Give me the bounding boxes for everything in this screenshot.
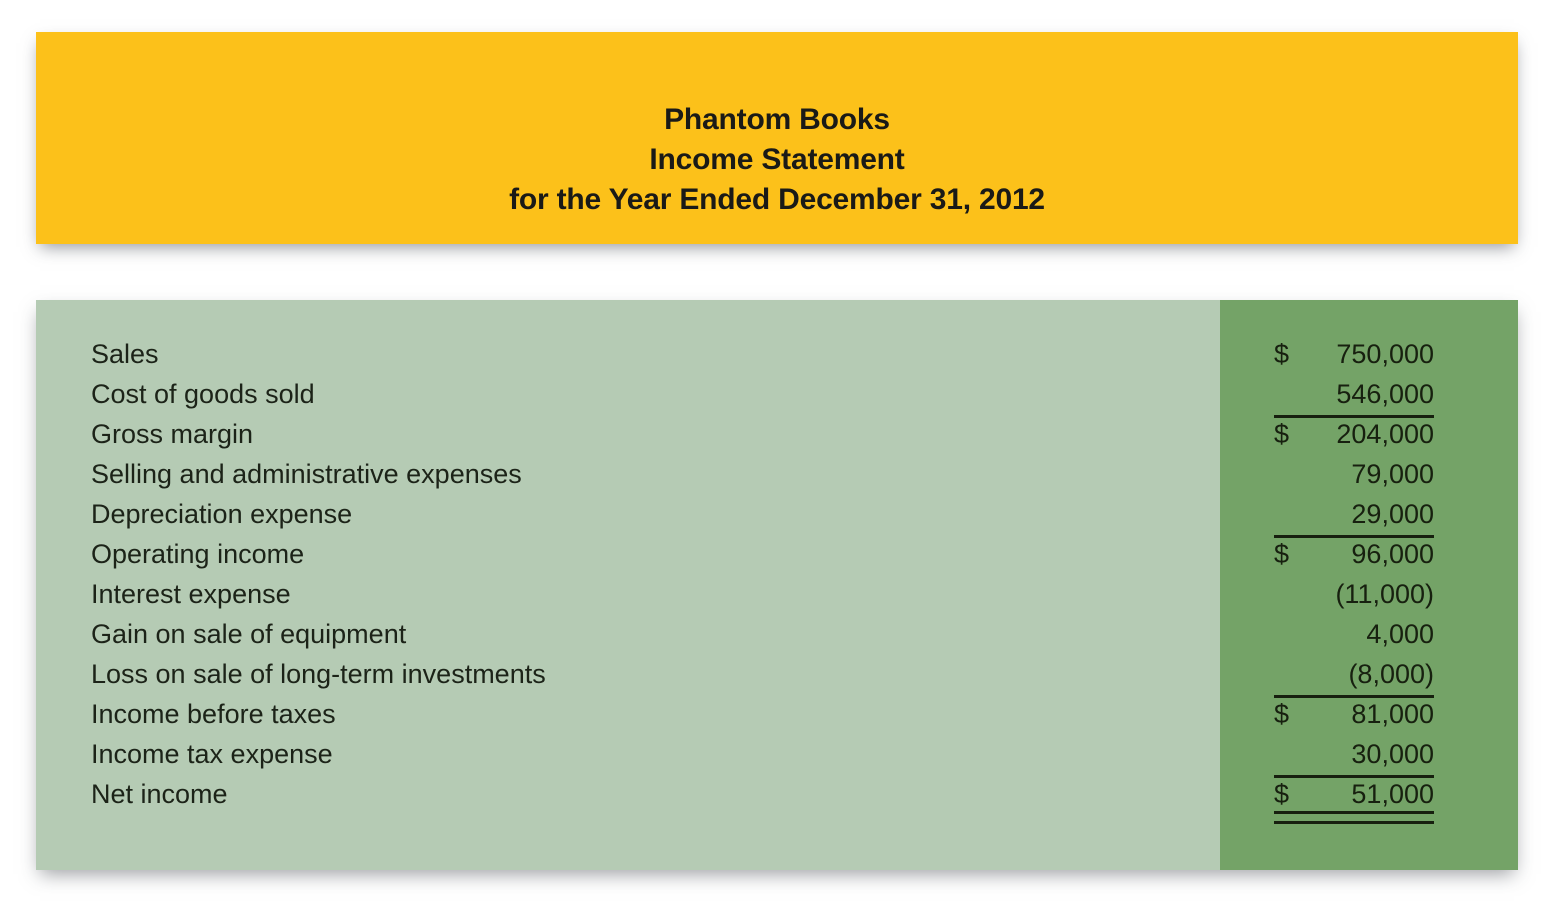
line-item-label: Net income	[36, 779, 228, 809]
line-item-label: Gain on sale of equipment	[36, 619, 406, 649]
table-row: Income before taxes $ 81,000	[36, 694, 1518, 734]
amount-text: 204,000	[1300, 419, 1434, 449]
amount-text: 29,000	[1300, 499, 1434, 529]
line-item-value: $ 204,000	[1274, 414, 1434, 454]
statement-type: Income Statement	[649, 140, 904, 180]
income-statement-figure: Phantom Books Income Statement for the Y…	[0, 0, 1555, 908]
amount-text: (11,000)	[1300, 579, 1434, 609]
line-item-label: Income tax expense	[36, 739, 333, 769]
table-row: Operating income $ 96,000	[36, 534, 1518, 574]
line-item-label: Income before taxes	[36, 699, 336, 729]
line-item-value: 30,000	[1274, 734, 1434, 774]
statement-body-panel: Sales $ 750,000 Cost of goods sold 546,0…	[36, 300, 1518, 870]
line-item-value: $ 96,000	[1274, 534, 1434, 574]
line-item-value: 546,000	[1274, 374, 1434, 414]
amount-text: 750,000	[1300, 339, 1434, 369]
table-row: Interest expense (11,000)	[36, 574, 1518, 614]
table-row: Gain on sale of equipment 4,000	[36, 614, 1518, 654]
line-item-value: 4,000	[1274, 614, 1434, 654]
table-row: Gross margin $ 204,000	[36, 414, 1518, 454]
line-item-value: 29,000	[1274, 494, 1434, 534]
table-row: Net income $ 51,000	[36, 774, 1518, 814]
table-row: Depreciation expense 29,000	[36, 494, 1518, 534]
table-row: Income tax expense 30,000	[36, 734, 1518, 774]
table-row: Cost of goods sold 546,000	[36, 374, 1518, 414]
line-item-label: Loss on sale of long-term investments	[36, 659, 546, 689]
currency-symbol: $	[1274, 539, 1300, 569]
statement-header-band: Phantom Books Income Statement for the Y…	[36, 32, 1518, 244]
company-name: Phantom Books	[664, 100, 890, 140]
amount-text: 51,000	[1300, 779, 1434, 809]
table-row: Selling and administrative expenses 79,0…	[36, 454, 1518, 494]
line-item-label: Interest expense	[36, 579, 291, 609]
statement-rows: Sales $ 750,000 Cost of goods sold 546,0…	[36, 300, 1518, 870]
amount-text: 81,000	[1300, 699, 1434, 729]
line-item-value: 79,000	[1274, 454, 1434, 494]
line-item-value: $ 81,000	[1274, 694, 1434, 734]
amount-text: 546,000	[1300, 379, 1434, 409]
table-row: Sales $ 750,000	[36, 334, 1518, 374]
currency-symbol: $	[1274, 699, 1300, 729]
line-item-label: Operating income	[36, 539, 304, 569]
statement-period: for the Year Ended December 31, 2012	[509, 180, 1045, 220]
line-item-label: Sales	[36, 339, 159, 369]
amount-text: 96,000	[1300, 539, 1434, 569]
amount-text: 79,000	[1300, 459, 1434, 489]
currency-symbol: $	[1274, 419, 1300, 449]
line-item-label: Cost of goods sold	[36, 379, 315, 409]
line-item-value: (8,000)	[1274, 654, 1434, 694]
amount-text: 4,000	[1300, 619, 1434, 649]
currency-symbol: $	[1274, 339, 1300, 369]
line-item-value: $ 51,000	[1274, 774, 1434, 814]
amount-text: 30,000	[1300, 739, 1434, 769]
amount-text: (8,000)	[1300, 659, 1434, 689]
line-item-value: (11,000)	[1274, 574, 1434, 614]
line-item-label: Selling and administrative expenses	[36, 459, 522, 489]
line-item-value: $ 750,000	[1274, 334, 1434, 374]
line-item-label: Depreciation expense	[36, 499, 352, 529]
table-row: Loss on sale of long-term investments (8…	[36, 654, 1518, 694]
currency-symbol: $	[1274, 779, 1300, 809]
line-item-label: Gross margin	[36, 419, 253, 449]
